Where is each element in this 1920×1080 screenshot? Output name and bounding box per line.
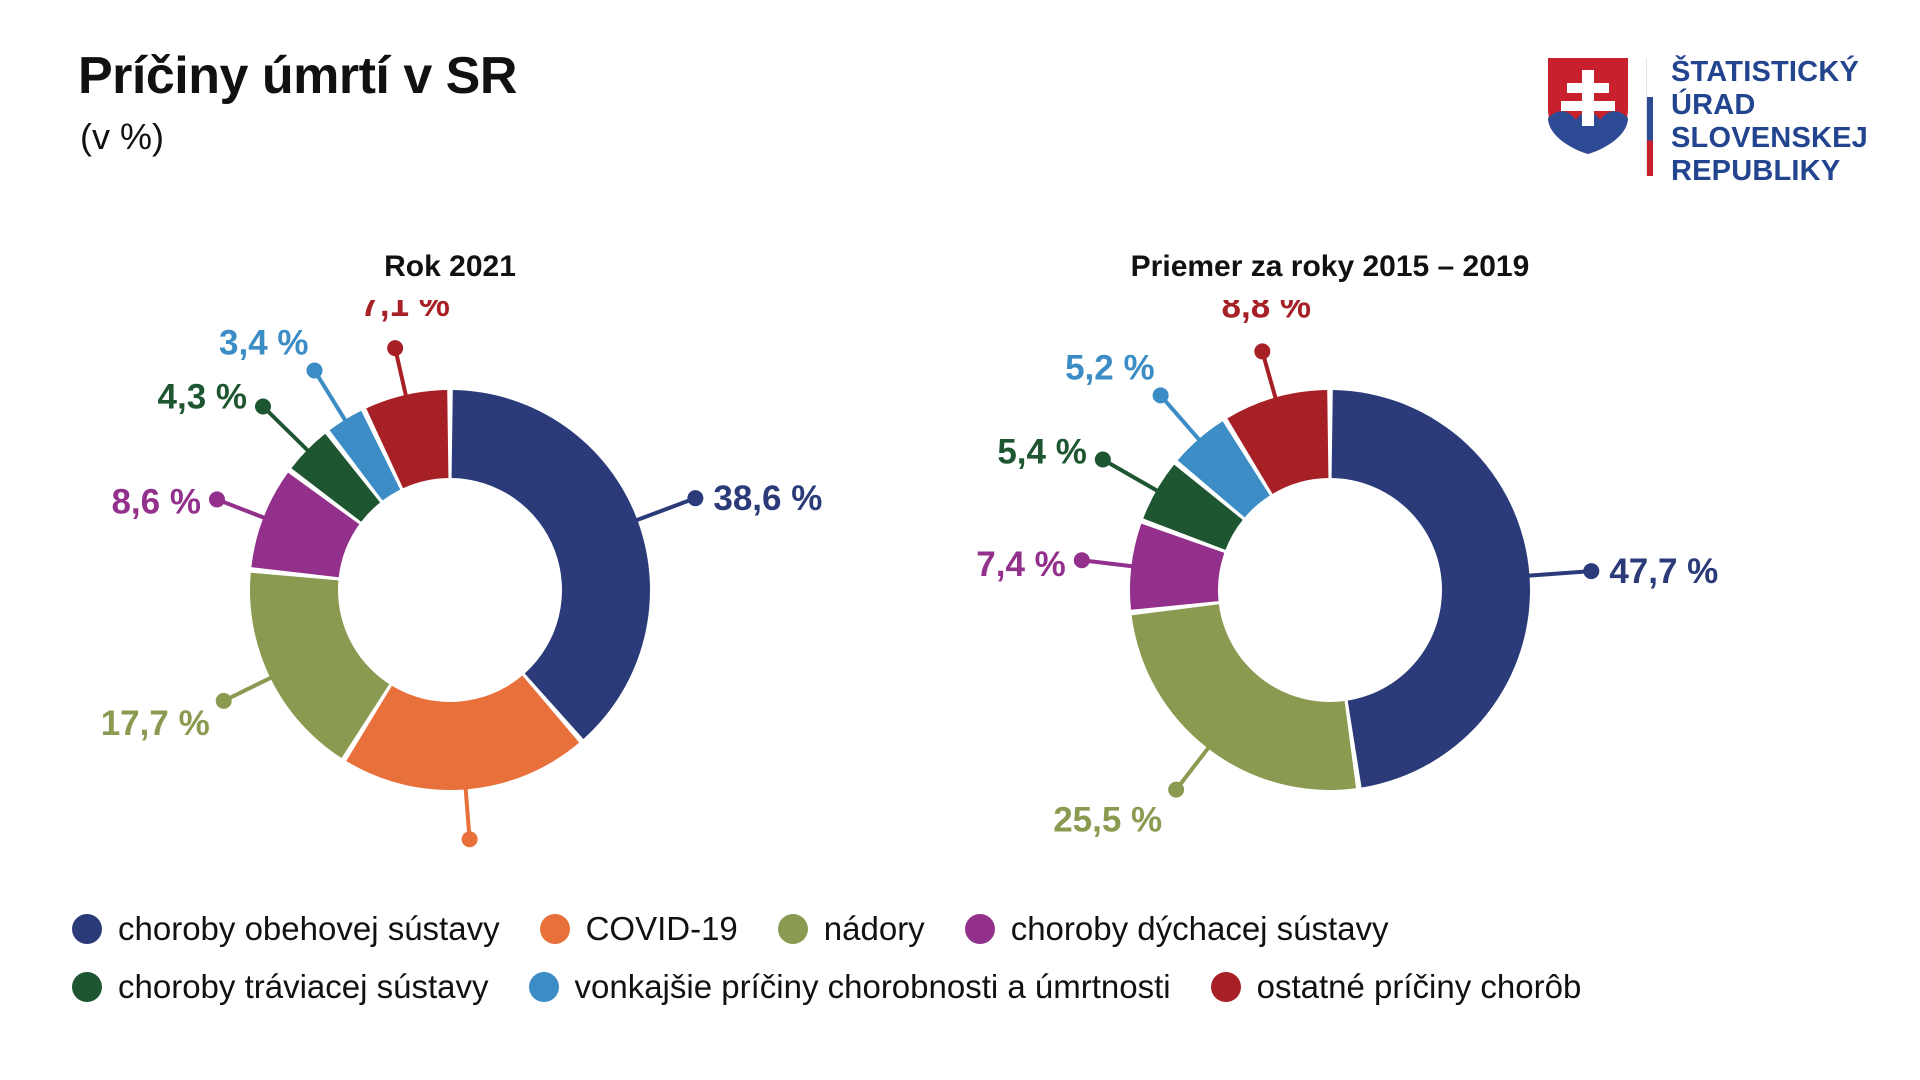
label-leader-dot <box>1583 563 1599 579</box>
donut-svg-average: 47,7 %25,5 %7,4 %5,4 %5,2 %8,8 % <box>900 300 1760 860</box>
chart-title-2021: Rok 2021 <box>20 250 880 284</box>
legend-item-label: choroby obehovej sústavy <box>118 910 500 948</box>
slice-value-label: 4,3 % <box>158 377 248 416</box>
slice-value-label: 25,5 % <box>1053 801 1162 840</box>
donut-svg-2021: 38,6 %20,3 %17,7 %8,6 %4,3 %3,4 %7,1 % <box>20 300 880 860</box>
slide-root: Príčiny úmrtí v SR (v %) ŠTATISTICKÝ ÚRA… <box>0 0 1920 1080</box>
legend-row: choroby tráviacej sústavyvonkajšie príči… <box>72 958 1862 1016</box>
label-leader-line <box>1176 744 1211 790</box>
donut-slice[interactable] <box>1132 604 1356 790</box>
legend-item-label: nádory <box>824 910 925 948</box>
slice-value-label: 7,1 % <box>360 300 450 324</box>
legend-color-swatch-icon <box>540 914 570 944</box>
label-leader-dot <box>307 362 323 378</box>
label-leader-line <box>224 675 276 701</box>
label-leader-dot <box>209 491 225 507</box>
donut-chart-average: Priemer za roky 2015 – 2019 47,7 %25,5 %… <box>900 250 1760 890</box>
label-leader-dot <box>216 693 232 709</box>
label-leader-line <box>395 348 407 401</box>
legend-item[interactable]: choroby tráviacej sústavy <box>72 968 489 1006</box>
legend-item-label: COVID-19 <box>586 910 738 948</box>
legend-item[interactable]: nádory <box>778 910 925 948</box>
legend-item[interactable]: choroby dýchacej sústavy <box>965 910 1389 948</box>
chart-legend: choroby obehovej sústavyCOVID-19nádorych… <box>72 900 1862 1016</box>
legend-color-swatch-icon <box>778 914 808 944</box>
label-leader-dot <box>255 398 271 414</box>
legend-color-swatch-icon <box>72 914 102 944</box>
slovak-coat-of-arms-icon <box>1546 56 1630 156</box>
legend-item[interactable]: vonkajšie príčiny chorobnosti a úmrtnost… <box>529 968 1171 1006</box>
slice-value-label: 5,4 % <box>997 432 1087 471</box>
label-leader-line <box>1161 395 1203 443</box>
label-leader-line <box>263 406 312 454</box>
label-leader-line <box>1082 560 1138 567</box>
legend-item-label: vonkajšie príčiny chorobnosti a úmrtnost… <box>575 968 1171 1006</box>
label-leader-dot <box>1074 552 1090 568</box>
organization-logo: ŠTATISTICKÝ ÚRAD SLOVENSKEJ REPUBLIKY <box>1546 56 1868 188</box>
legend-item-label: ostatné príčiny chorôb <box>1257 968 1582 1006</box>
legend-color-swatch-icon <box>1211 972 1241 1002</box>
label-leader-line <box>315 370 349 424</box>
page-title: Príčiny úmrtí v SR <box>78 46 517 106</box>
slice-value-label: 38,6 % <box>713 479 822 518</box>
label-leader-dot <box>1254 343 1270 359</box>
donut-canvas-2021: 38,6 %20,3 %17,7 %8,6 %4,3 %3,4 %7,1 % <box>20 300 880 860</box>
label-leader-line <box>217 499 269 519</box>
legend-item-label: choroby dýchacej sústavy <box>1011 910 1389 948</box>
logo-line-2: ÚRAD <box>1671 89 1868 122</box>
label-leader-dot <box>462 831 478 847</box>
page-subtitle: (v %) <box>80 116 164 158</box>
label-leader-line <box>1103 459 1162 493</box>
label-leader-line <box>465 783 469 839</box>
donut-slice[interactable] <box>452 390 650 739</box>
chart-title-average: Priemer za roky 2015 – 2019 <box>900 250 1760 284</box>
label-leader-dot <box>1168 782 1184 798</box>
label-leader-line <box>1523 571 1591 576</box>
donut-chart-2021: Rok 2021 38,6 %20,3 %17,7 %8,6 %4,3 %3,4… <box>20 250 880 890</box>
logo-line-4: REPUBLIKY <box>1671 155 1868 188</box>
label-leader-dot <box>1153 387 1169 403</box>
slice-value-label: 8,8 % <box>1222 300 1312 325</box>
slice-value-label: 20,3 % <box>478 856 587 860</box>
label-leader-line <box>632 498 696 522</box>
donut-slice[interactable] <box>1332 390 1530 787</box>
slice-value-label: 8,6 % <box>111 482 201 521</box>
legend-color-swatch-icon <box>72 972 102 1002</box>
logo-line-1: ŠTATISTICKÝ <box>1671 56 1868 89</box>
slice-value-label: 7,4 % <box>976 545 1065 584</box>
label-leader-dot <box>1095 451 1111 467</box>
legend-color-swatch-icon <box>965 914 995 944</box>
slice-value-label: 3,4 % <box>219 323 309 362</box>
legend-row: choroby obehovej sústavyCOVID-19nádorych… <box>72 900 1862 958</box>
legend-item[interactable]: choroby obehovej sústavy <box>72 910 500 948</box>
donut-canvas-average: 47,7 %25,5 %7,4 %5,4 %5,2 %8,8 % <box>900 300 1760 860</box>
legend-item[interactable]: COVID-19 <box>540 910 738 948</box>
logo-divider <box>1646 58 1653 176</box>
label-leader-dot <box>687 490 703 506</box>
logo-line-3: SLOVENSKEJ <box>1671 122 1868 155</box>
legend-item-label: choroby tráviacej sústavy <box>118 968 489 1006</box>
logo-wordmark: ŠTATISTICKÝ ÚRAD SLOVENSKEJ REPUBLIKY <box>1671 56 1868 188</box>
label-leader-line <box>1262 351 1277 403</box>
slice-value-label: 47,7 % <box>1609 552 1718 591</box>
slice-value-label: 17,7 % <box>101 704 210 743</box>
slice-value-label: 5,2 % <box>1065 348 1155 387</box>
legend-item[interactable]: ostatné príčiny chorôb <box>1211 968 1582 1006</box>
label-leader-dot <box>387 340 403 356</box>
legend-color-swatch-icon <box>529 972 559 1002</box>
